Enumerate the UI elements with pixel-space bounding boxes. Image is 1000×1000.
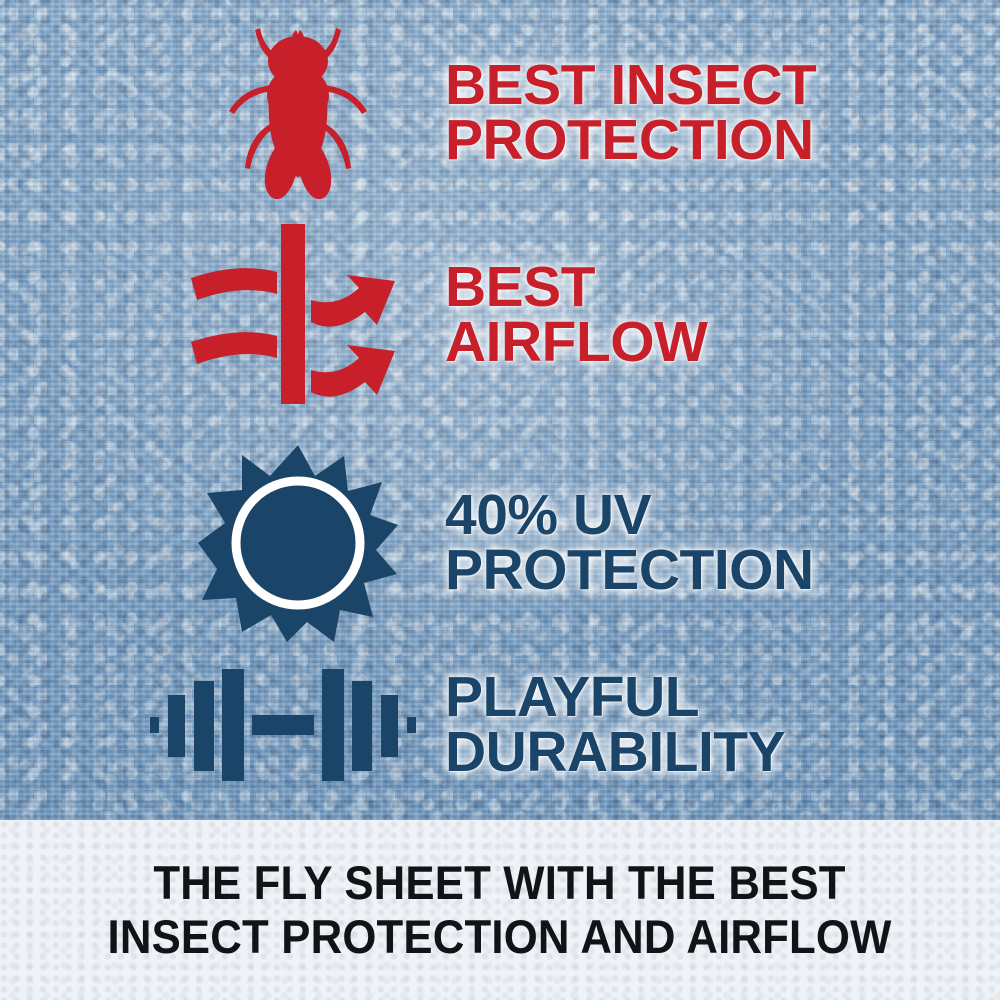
feature-row-uv-protection: 40% UV PROTECTION <box>150 440 1000 645</box>
airflow-icon-cell <box>150 222 445 408</box>
fly-icon-cell <box>150 18 445 208</box>
sun-icon-cell <box>150 440 445 645</box>
feature-label-airflow: BEST AIRFLOW <box>445 260 707 369</box>
feature-row-durability: PLAYFUL DURABILITY <box>120 650 1000 800</box>
feature-row-insect-protection: BEST INSECT PROTECTION <box>150 18 1000 208</box>
caption-headline: THE FLY SHEET WITH THE BEST INSECT PROTE… <box>108 856 892 963</box>
feature-label-uv-protection: 40% UV PROTECTION <box>445 488 814 597</box>
feature-label-durability: PLAYFUL DURABILITY <box>445 670 785 779</box>
dumbbell-icon <box>148 665 418 785</box>
feature-row-airflow: BEST AIRFLOW <box>150 222 1000 408</box>
airflow-arrows-icon <box>183 222 413 408</box>
sun-burst-icon <box>198 443 398 643</box>
feature-label-insect-protection: BEST INSECT PROTECTION <box>445 58 816 167</box>
caption-bar: THE FLY SHEET WITH THE BEST INSECT PROTE… <box>0 820 1000 1000</box>
fly-icon <box>223 23 373 203</box>
product-feature-poster: BEST INSECT PROTECTION BEST AIRFLO <box>0 0 1000 1000</box>
dumbbell-icon-cell <box>120 650 445 800</box>
